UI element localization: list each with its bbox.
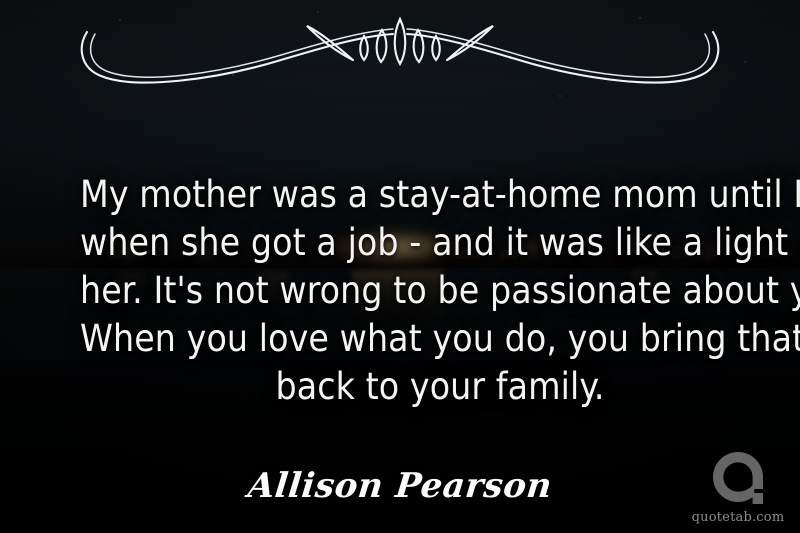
quote-line: back to your family. bbox=[80, 363, 800, 411]
card-content: My mother was a stay-at-home mom until I… bbox=[0, 0, 800, 533]
watermark-text: quotetab.com bbox=[690, 510, 786, 525]
quote-line: My mother was a stay-at-home mom until I… bbox=[80, 171, 800, 219]
quotetab-logo-icon bbox=[707, 447, 769, 509]
quote-text: My mother was a stay-at-home mom until I… bbox=[80, 171, 800, 411]
flourish-divider-icon bbox=[75, 14, 725, 86]
quote-line: When you love what you do, you bring tha… bbox=[80, 315, 800, 363]
quote-card: My mother was a stay-at-home mom until I… bbox=[0, 0, 800, 533]
watermark[interactable]: quotetab.com bbox=[690, 447, 786, 525]
author-name[interactable]: Allison Pearson bbox=[0, 466, 800, 506]
quote-line: when she got a job - and it was like a l… bbox=[80, 219, 800, 267]
quote-line: her. It's not wrong to be passionate abo… bbox=[80, 267, 800, 315]
